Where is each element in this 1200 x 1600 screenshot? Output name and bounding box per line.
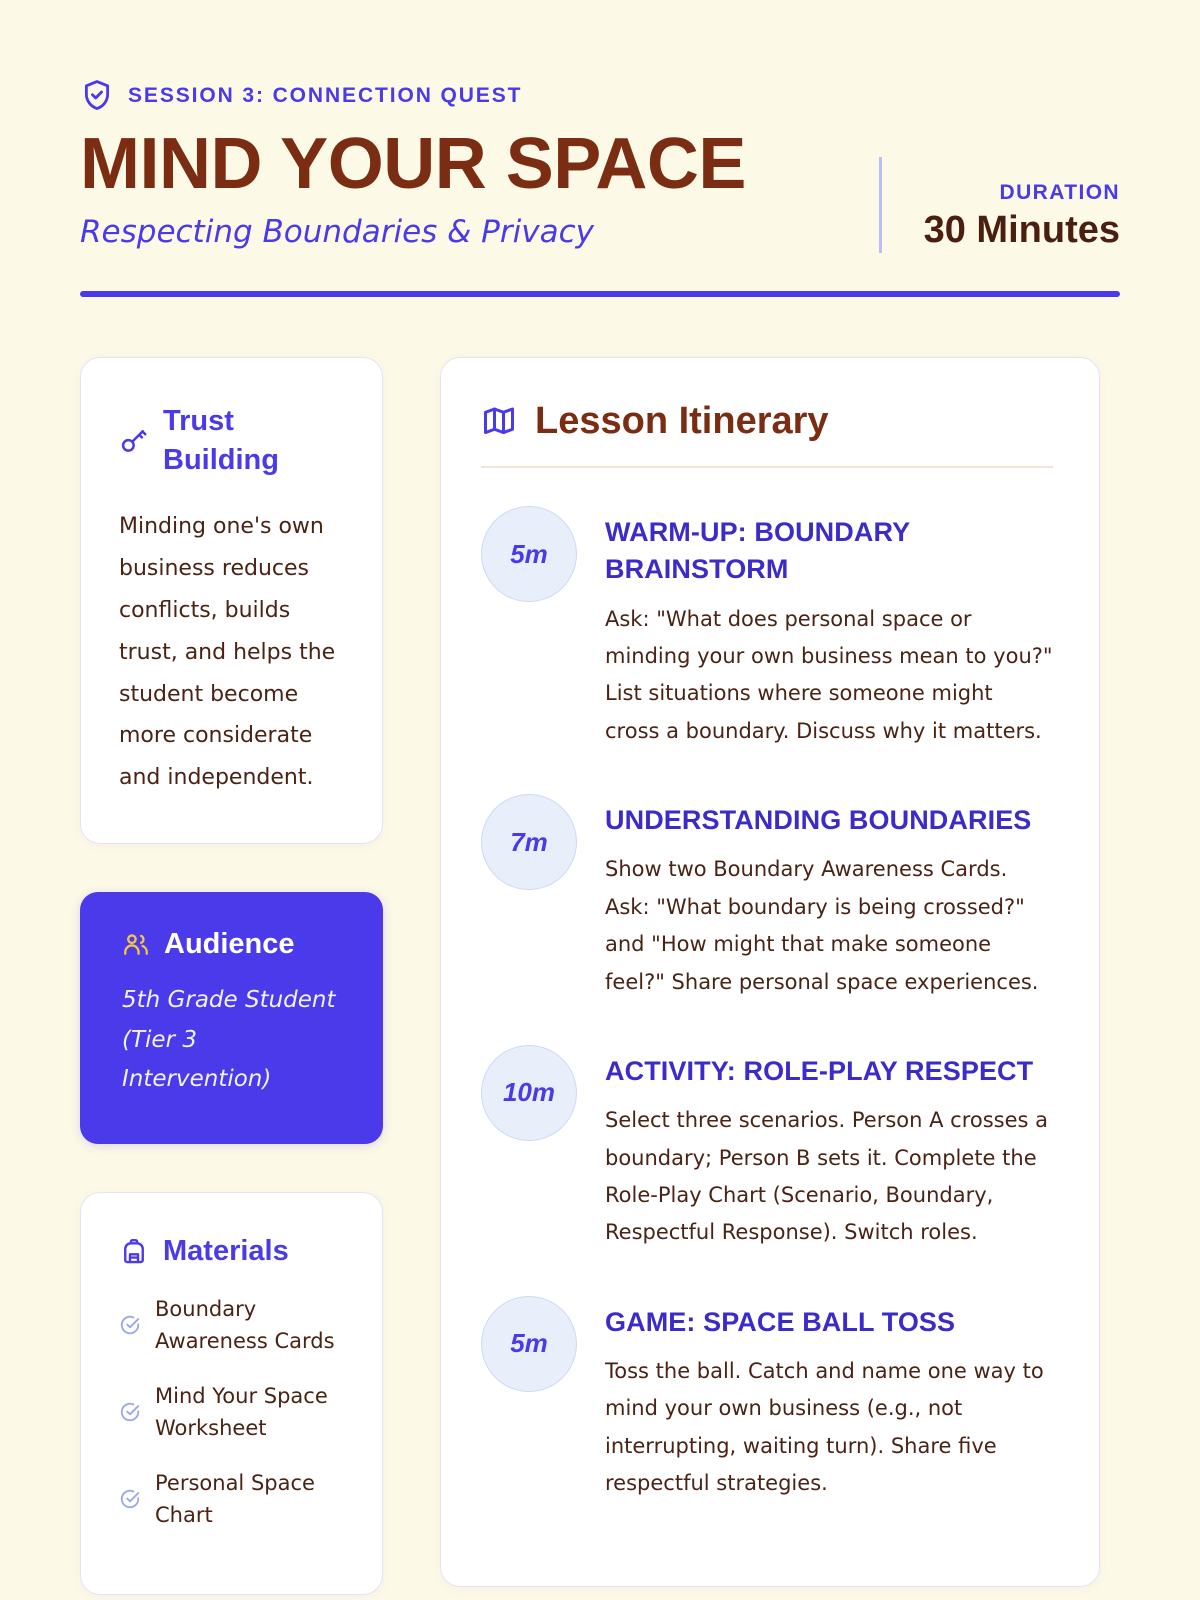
shield-check-icon bbox=[80, 78, 114, 112]
material-label: Personal Space Chart bbox=[155, 1467, 344, 1532]
itinerary-step: 10m Activity: Role-Play Respect Select t… bbox=[481, 1045, 1053, 1252]
itinerary-step: 5m Game: Space Ball Toss Toss the ball. … bbox=[481, 1296, 1053, 1503]
session-label: Session 3: Connection Quest bbox=[128, 85, 522, 106]
check-circle-icon bbox=[119, 1488, 141, 1510]
map-icon bbox=[481, 403, 517, 439]
session-eyebrow: Session 3: Connection Quest bbox=[80, 78, 1120, 112]
itinerary-step: 7m Understanding Boundaries Show two Bou… bbox=[481, 794, 1053, 1001]
duration-value: 30 Minutes bbox=[924, 211, 1120, 249]
step-title: Understanding Boundaries bbox=[605, 802, 1053, 839]
page-subtitle: Respecting Boundaries & Privacy bbox=[80, 214, 746, 251]
itinerary-header: Lesson Itinerary bbox=[481, 402, 1053, 468]
step-description: Ask: "What does personal space or mindin… bbox=[605, 601, 1053, 751]
materials-header: Materials bbox=[119, 1237, 344, 1267]
step-title: Warm-Up: Boundary Brainstorm bbox=[605, 514, 1053, 589]
trust-building-header: Trust Building bbox=[119, 402, 344, 480]
materials-list: Boundary Awareness Cards Mind Your Space… bbox=[119, 1293, 344, 1532]
step-description: Show two Boundary Awareness Cards. Ask: … bbox=[605, 851, 1053, 1001]
audience-body: 5th Grade Student (Tier 3 Intervention) bbox=[122, 981, 341, 1100]
trust-building-card: Trust Building Minding one's own busines… bbox=[80, 357, 383, 844]
itinerary-title: Lesson Itinerary bbox=[535, 402, 829, 440]
sidebar: Trust Building Minding one's own busines… bbox=[80, 357, 383, 1595]
header: Session 3: Connection Quest Mind Your Sp… bbox=[80, 78, 1120, 297]
list-item: Mind Your Space Worksheet bbox=[119, 1380, 344, 1445]
audience-title: Audience bbox=[164, 930, 295, 959]
page-title: Mind Your Space bbox=[80, 128, 746, 200]
users-icon bbox=[122, 931, 150, 959]
check-circle-icon bbox=[119, 1314, 141, 1336]
lesson-plan-page: Session 3: Connection Quest Mind Your Sp… bbox=[0, 0, 1200, 1600]
trust-building-body: Minding one's own business reduces confl… bbox=[119, 506, 344, 799]
duration-label: Duration bbox=[924, 181, 1120, 205]
step-description: Select three scenarios. Person A crosses… bbox=[605, 1102, 1053, 1252]
audience-header: Audience bbox=[122, 930, 341, 959]
material-label: Boundary Awareness Cards bbox=[155, 1293, 344, 1358]
step-duration-badge: 10m bbox=[481, 1045, 577, 1141]
trust-building-title: Trust Building bbox=[163, 402, 344, 480]
key-icon bbox=[119, 426, 149, 456]
materials-title: Materials bbox=[163, 1237, 289, 1266]
step-title: Activity: Role-Play Respect bbox=[605, 1053, 1053, 1090]
list-item: Boundary Awareness Cards bbox=[119, 1293, 344, 1358]
material-label: Mind Your Space Worksheet bbox=[155, 1380, 344, 1445]
header-divider bbox=[80, 291, 1120, 297]
step-duration-badge: 5m bbox=[481, 506, 577, 602]
audience-card: Audience 5th Grade Student (Tier 3 Inter… bbox=[80, 892, 383, 1144]
content-area: Trust Building Minding one's own busines… bbox=[80, 357, 1120, 1595]
backpack-icon bbox=[119, 1237, 149, 1267]
lesson-itinerary-card: Lesson Itinerary 5m Warm-Up: Boundary Br… bbox=[440, 357, 1100, 1587]
duration-block: Duration 30 Minutes bbox=[879, 157, 1120, 253]
step-duration-badge: 7m bbox=[481, 794, 577, 890]
step-title: Game: Space Ball Toss bbox=[605, 1304, 1053, 1341]
materials-card: Materials Boundary Awareness Cards bbox=[80, 1192, 383, 1595]
check-circle-icon bbox=[119, 1401, 141, 1423]
itinerary-step: 5m Warm-Up: Boundary Brainstorm Ask: "Wh… bbox=[481, 506, 1053, 750]
step-description: Toss the ball. Catch and name one way to… bbox=[605, 1353, 1053, 1503]
list-item: Personal Space Chart bbox=[119, 1467, 344, 1532]
step-duration-badge: 5m bbox=[481, 1296, 577, 1392]
itinerary-column: Lesson Itinerary 5m Warm-Up: Boundary Br… bbox=[440, 357, 1100, 1595]
